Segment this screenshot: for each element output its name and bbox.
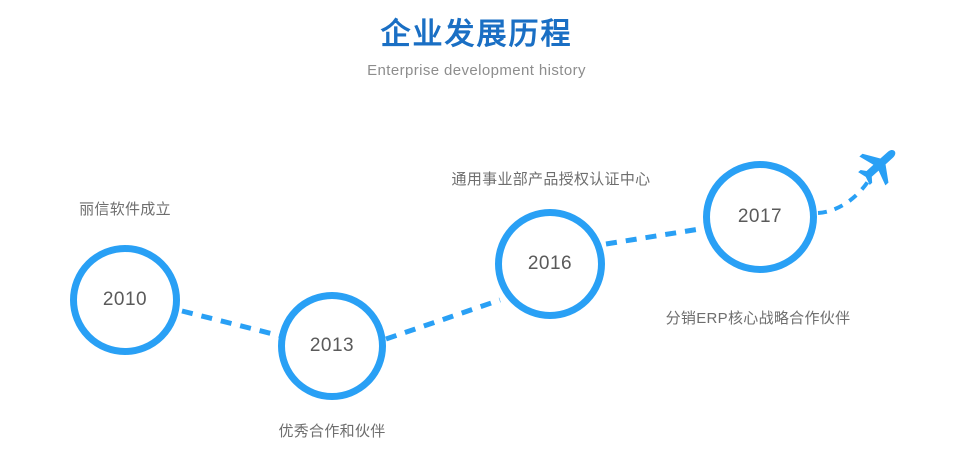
milestone-node-2010[interactable]: 2010 <box>70 245 180 355</box>
milestone-year: 2010 <box>103 290 147 310</box>
milestone-node-2017[interactable]: 2017 <box>703 161 817 273</box>
milestone-node-2016[interactable]: 2016 <box>495 209 605 319</box>
connector-2013-2016 <box>386 300 500 339</box>
milestone-caption-2016: 通用事业部产品授权认证中心 <box>452 170 651 190</box>
connector-2016-2017 <box>606 228 706 244</box>
airplane-icon <box>856 142 902 188</box>
milestone-year: 2013 <box>310 336 354 356</box>
milestone-node-2013[interactable]: 2013 <box>278 292 386 400</box>
connector-2010-2013 <box>182 311 281 336</box>
milestone-caption-2017: 分销ERP核心战略合作伙伴 <box>666 309 851 329</box>
timeline-infographic: 企业发展历程 Enterprise development history 20… <box>0 0 953 472</box>
milestone-caption-2013: 优秀合作和伙伴 <box>278 422 385 442</box>
milestone-year: 2017 <box>738 207 782 227</box>
page-title: 企业发展历程 <box>0 0 953 52</box>
milestone-caption-2010: 丽信软件成立 <box>79 200 171 220</box>
page-subtitle: Enterprise development history <box>0 52 953 81</box>
milestone-year: 2016 <box>528 254 572 274</box>
header: 企业发展历程 Enterprise development history <box>0 0 953 81</box>
